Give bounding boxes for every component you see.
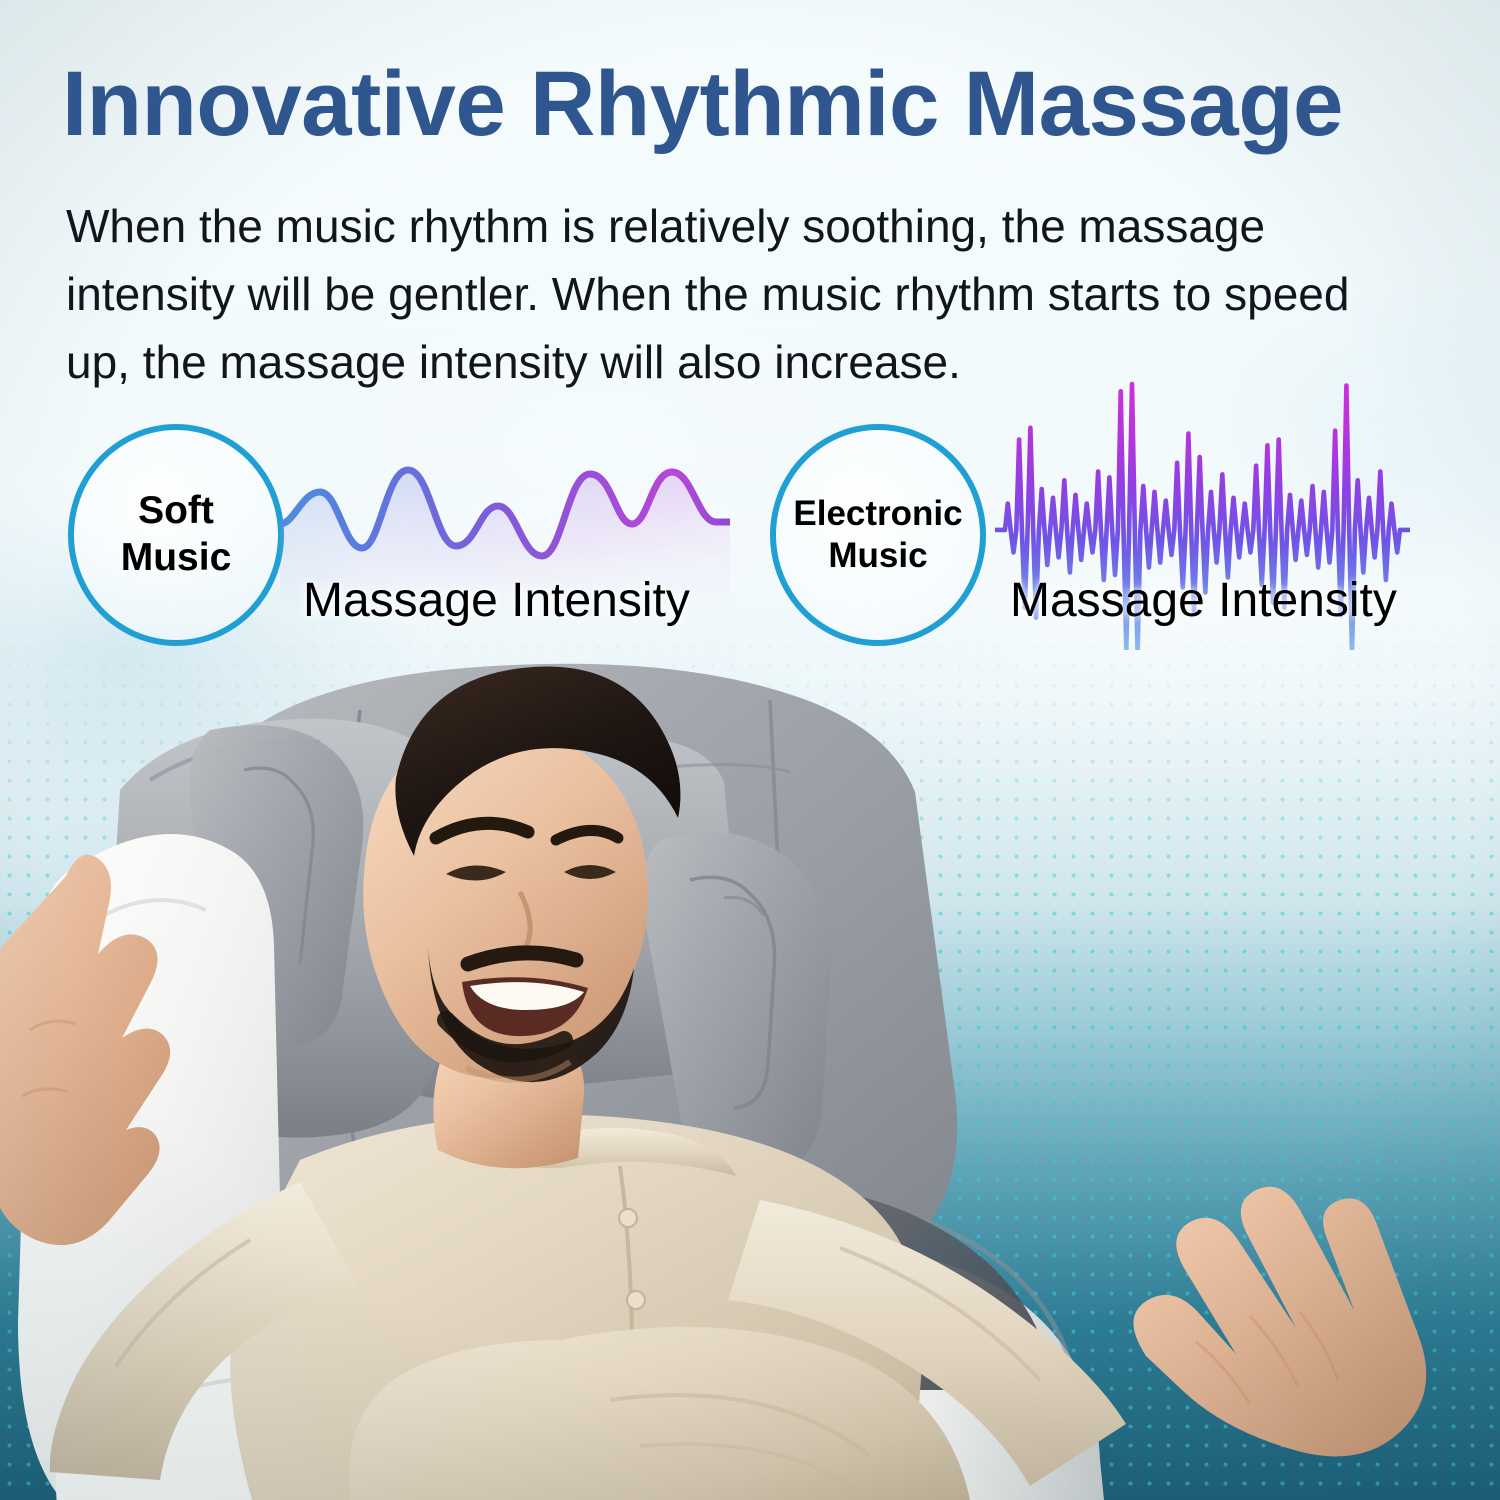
infographic-poster: Innovative Rhythmic Massage When the mus… (0, 0, 1500, 1500)
shirt-button (627, 1291, 645, 1309)
badge-soft-music[interactable]: Soft Music (68, 424, 284, 646)
badge-electronic-music-line2: Music (793, 535, 962, 577)
soft-wave-axis-label: Massage Intensity (303, 573, 690, 628)
badge-electronic-music[interactable]: Electronic Music (770, 424, 986, 646)
massage-chair-photo (0, 600, 1500, 1500)
badge-soft-music-line1: Soft (121, 488, 232, 535)
electronic-wave-axis-label: Massage Intensity (1010, 573, 1397, 628)
badge-electronic-music-line1: Electronic (793, 493, 962, 535)
page-title: Innovative Rhythmic Massage (62, 58, 1431, 150)
man-right-hand (1133, 1187, 1426, 1457)
badge-soft-music-line2: Music (121, 535, 232, 582)
page-body-text: When the music rhythm is relatively soot… (66, 192, 1356, 396)
shirt-button (619, 1209, 637, 1227)
